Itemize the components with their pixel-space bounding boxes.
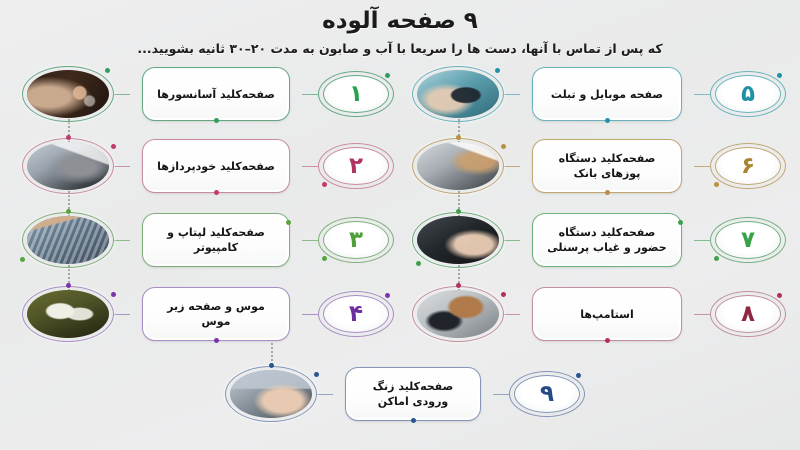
connector-dot: [456, 209, 461, 214]
number-badge-9[interactable]: ۹: [509, 371, 585, 417]
connector-dot: [678, 220, 683, 225]
badge-outer-ring: [318, 71, 394, 117]
badge-outer-ring: [318, 143, 394, 189]
connector-dot: [66, 283, 71, 288]
connector-dot: [385, 293, 390, 298]
connector-dot: [322, 182, 327, 187]
item-label: صفحه‌کلید دستگاه حضور و غیاب پرسنلی: [541, 225, 673, 255]
thumbnail-mobile-tablet[interactable]: [412, 66, 504, 122]
connector-dot: [66, 209, 71, 214]
connector-dot: [385, 73, 390, 78]
thumbnail-atm-keypad[interactable]: [22, 138, 114, 194]
item-label: صفحه‌کلید خودپردازها: [157, 159, 275, 174]
connector-dot: [456, 135, 461, 140]
number-badge-3[interactable]: ۳: [318, 217, 394, 263]
label-box-8[interactable]: استامپ‌ها: [532, 287, 682, 341]
badge-outer-ring: [318, 217, 394, 263]
connector-dot: [314, 372, 319, 377]
connector-dot: [105, 68, 110, 73]
thumbnail-mouse-mousepad[interactable]: [22, 286, 114, 342]
connector-line: [114, 314, 130, 315]
flow-item-5[interactable]: صفحه موبایل و تبلت ۵: [412, 63, 786, 125]
connector-dot: [322, 256, 327, 261]
connector-line: [302, 314, 318, 315]
number-badge-8[interactable]: ۸: [710, 291, 786, 337]
flow-item-3[interactable]: صفحه‌کلید لپتاپ و کامپیوتر ۳: [22, 209, 394, 271]
item-label: صفحه‌کلید لپتاپ و کامپیوتر: [151, 225, 281, 255]
connector-dot: [714, 256, 719, 261]
connector-dot: [501, 292, 506, 297]
item-label: صفحه‌کلید دستگاه پوزهای بانک: [541, 151, 673, 181]
connector-dot: [214, 190, 219, 195]
connector-dot: [66, 135, 71, 140]
connector-line: [694, 240, 710, 241]
connector-line: [302, 94, 318, 95]
number-badge-4[interactable]: ۴: [318, 291, 394, 337]
connector-line: [504, 94, 520, 95]
thumbnail-ring: [22, 286, 114, 342]
badge-outer-ring: [509, 371, 585, 417]
connector-dot: [495, 68, 500, 73]
number-badge-5[interactable]: ۵: [710, 71, 786, 117]
connector-dot: [111, 292, 116, 297]
thumbnail-bank-pos[interactable]: [412, 138, 504, 194]
thumbnail-ring: [412, 138, 504, 194]
badge-outer-ring: [710, 217, 786, 263]
flow-item-8[interactable]: استامپ‌ها ۸: [412, 283, 786, 345]
number-badge-1[interactable]: ۱: [318, 71, 394, 117]
connector-dot: [605, 190, 610, 195]
connector-line: [694, 314, 710, 315]
connector-dot: [214, 338, 219, 343]
label-box-5[interactable]: صفحه موبایل و تبلت: [532, 67, 682, 121]
connector-dot: [714, 182, 719, 187]
connector-dot: [416, 261, 421, 266]
connector-dot: [501, 144, 506, 149]
label-box-6[interactable]: صفحه‌کلید دستگاه پوزهای بانک: [532, 139, 682, 193]
thumbnail-elevator-keypad[interactable]: [22, 66, 114, 122]
connector-line: [493, 394, 509, 395]
flow-item-1[interactable]: صفحه‌کلید آسانسورها ۱: [22, 63, 394, 125]
label-box-3[interactable]: صفحه‌کلید لپتاپ و کامپیوتر: [142, 213, 290, 267]
page-title: ۹ صفحه آلوده: [0, 6, 800, 36]
connector-dot: [20, 257, 25, 262]
connector-line: [302, 240, 318, 241]
flow-item-2[interactable]: صفحه‌کلید خودپردازها ۲: [22, 135, 394, 197]
connector-dot: [411, 418, 416, 423]
number-badge-6[interactable]: ۶: [710, 143, 786, 189]
thumbnail-ring: [412, 286, 504, 342]
connector-dot: [269, 363, 274, 368]
thumbnail-ring: [22, 66, 114, 122]
item-label: صفحه‌کلید آسانسورها: [157, 87, 275, 102]
flow-item-7[interactable]: صفحه‌کلید دستگاه حضور و غیاب پرسنلی ۷: [412, 209, 786, 271]
connector-dot: [777, 293, 782, 298]
number-badge-7[interactable]: ۷: [710, 217, 786, 263]
number-badge-2[interactable]: ۲: [318, 143, 394, 189]
thumbnail-ring: [412, 66, 504, 122]
connector-dot: [777, 73, 782, 78]
item-label: صفحه موبایل و تبلت: [551, 87, 663, 102]
infographic-header: ۹ صفحه آلوده که پس از تماس با آنها، دست …: [0, 0, 800, 57]
flow-item-9[interactable]: صفحه‌کلید زنگ ورودی اماکن ۹: [225, 363, 585, 425]
page-subtitle: که پس از تماس با آنها، دست ها را سریعا ب…: [0, 41, 800, 57]
label-box-7[interactable]: صفحه‌کلید دستگاه حضور و غیاب پرسنلی: [532, 213, 682, 267]
connector-line: [114, 166, 130, 167]
infographic-board: صفحه‌کلید آسانسورها ۱ صفحه‌کلید خودپرداز…: [0, 57, 800, 437]
connector-line: [504, 240, 520, 241]
connector-dot: [456, 283, 461, 288]
connector-line: [504, 166, 520, 167]
thumbnail-ring: [22, 212, 114, 268]
connector-line: [114, 94, 130, 95]
connector-dot: [214, 118, 219, 123]
flow-item-6[interactable]: صفحه‌کلید دستگاه پوزهای بانک ۶: [412, 135, 786, 197]
item-label: استامپ‌ها: [580, 307, 633, 322]
badge-outer-ring: [318, 291, 394, 337]
thumbnail-doorbell-keypad[interactable]: [225, 366, 317, 422]
connector-dot: [605, 118, 610, 123]
label-box-4[interactable]: موس و صفحه زیر موس: [142, 287, 290, 341]
connector-line: [317, 394, 333, 395]
connector-line: [302, 166, 318, 167]
thumbnail-attendance-device[interactable]: [412, 212, 504, 268]
connector-dot: [111, 144, 116, 149]
thumbnail-ring: [22, 138, 114, 194]
thumbnail-laptop-keyboard[interactable]: [22, 212, 114, 268]
badge-outer-ring: [710, 71, 786, 117]
connector-dot: [286, 220, 291, 225]
badge-outer-ring: [710, 143, 786, 189]
connector-line: [694, 94, 710, 95]
item-label: صفحه‌کلید زنگ ورودی اماکن: [354, 379, 472, 409]
thumbnail-ring: [225, 366, 317, 422]
connector-dot: [605, 338, 610, 343]
badge-outer-ring: [710, 291, 786, 337]
connector-line: [694, 166, 710, 167]
connector-line: [504, 314, 520, 315]
connector-line: [114, 240, 130, 241]
connector-dot: [576, 373, 581, 378]
label-box-2[interactable]: صفحه‌کلید خودپردازها: [142, 139, 290, 193]
label-box-1[interactable]: صفحه‌کلید آسانسورها: [142, 67, 290, 121]
label-box-9[interactable]: صفحه‌کلید زنگ ورودی اماکن: [345, 367, 481, 421]
flow-item-4[interactable]: موس و صفحه زیر موس ۴: [22, 283, 394, 345]
thumbnail-ink-stamps[interactable]: [412, 286, 504, 342]
thumbnail-ring: [412, 212, 504, 268]
item-label: موس و صفحه زیر موس: [151, 299, 281, 329]
